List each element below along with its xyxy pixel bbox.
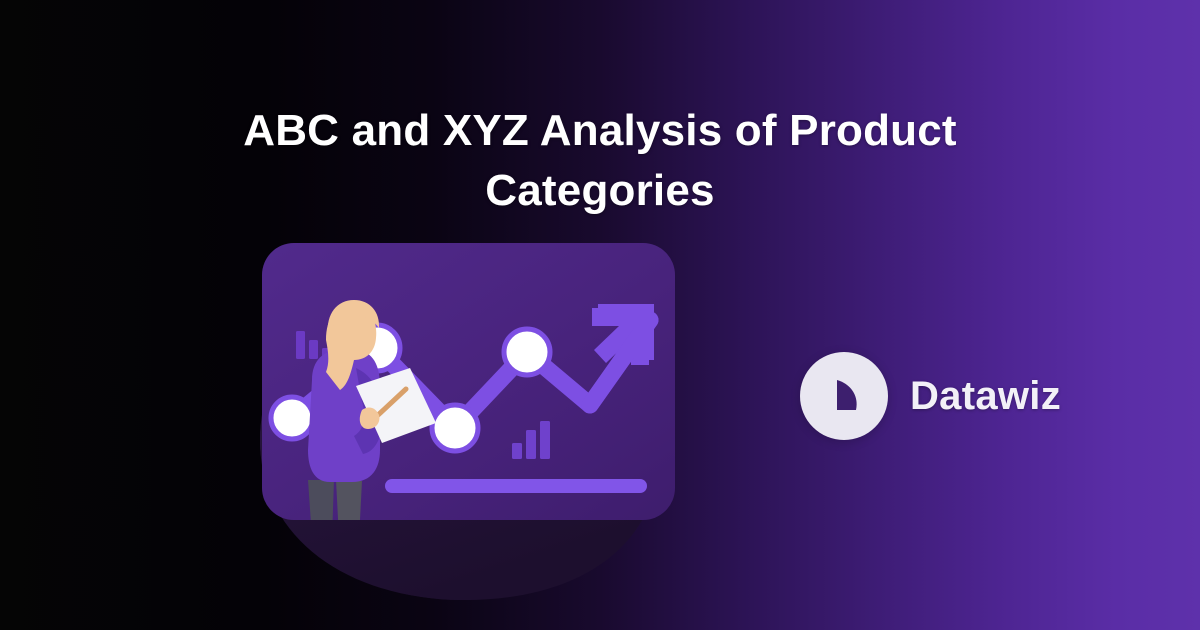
brand-lockup: Datawiz <box>800 352 1061 440</box>
analytics-dashboard-illustration <box>230 200 700 620</box>
promo-banner: ABC and XYZ Analysis of Product Categori… <box>0 0 1200 630</box>
datawiz-sail-logo-icon <box>800 352 888 440</box>
progress-bar <box>385 479 647 493</box>
brand-name: Datawiz <box>910 374 1061 419</box>
